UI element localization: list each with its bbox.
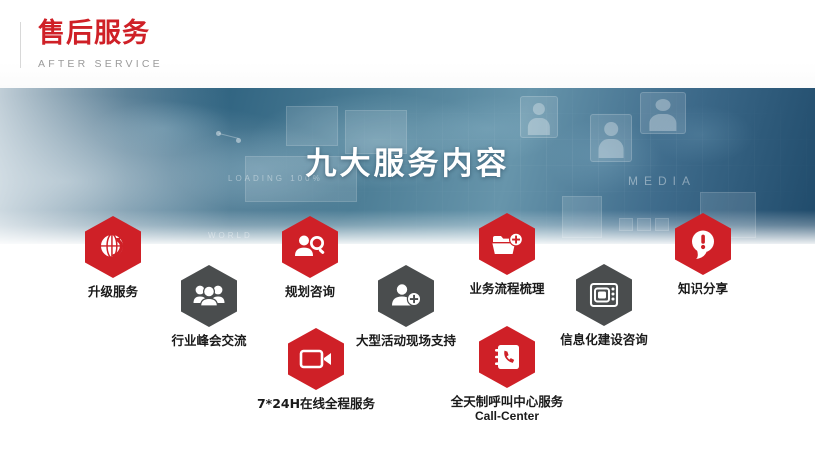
service-node-grid: 升级服务 行业峰会交流 规划咨询 <box>0 0 815 453</box>
folder-add-icon <box>490 229 524 259</box>
service-node-call-center-service[interactable]: 全天制呼叫中心服务 Call-Center <box>427 326 587 424</box>
hexagon-badge <box>479 326 535 388</box>
hexagon-badge <box>288 328 344 390</box>
person-search-icon <box>293 232 327 262</box>
hexagon-badge <box>576 264 632 326</box>
service-label: 知识分享 <box>647 281 759 296</box>
service-label: 全天制呼叫中心服务 <box>427 394 587 409</box>
service-label: 7*24H在线全程服务 <box>236 396 396 411</box>
service-node-knowledge-sharing[interactable]: 知识分享 <box>647 213 759 296</box>
hexagon-badge <box>85 216 141 278</box>
person-add-icon <box>389 281 423 311</box>
service-sublabel: Call-Center <box>427 409 587 424</box>
monitor-icon <box>588 280 620 310</box>
hexagon-badge <box>479 213 535 275</box>
service-node-online-24h-service[interactable]: 7*24H在线全程服务 <box>236 328 396 411</box>
hexagon-badge <box>181 265 237 327</box>
hexagon-badge <box>378 265 434 327</box>
speech-alert-icon <box>688 228 718 260</box>
hexagon-badge <box>675 213 731 275</box>
people-group-icon <box>192 281 226 311</box>
video-camera-icon <box>299 347 333 371</box>
globe-upgrade-icon <box>96 230 130 264</box>
phone-book-icon <box>492 342 522 372</box>
